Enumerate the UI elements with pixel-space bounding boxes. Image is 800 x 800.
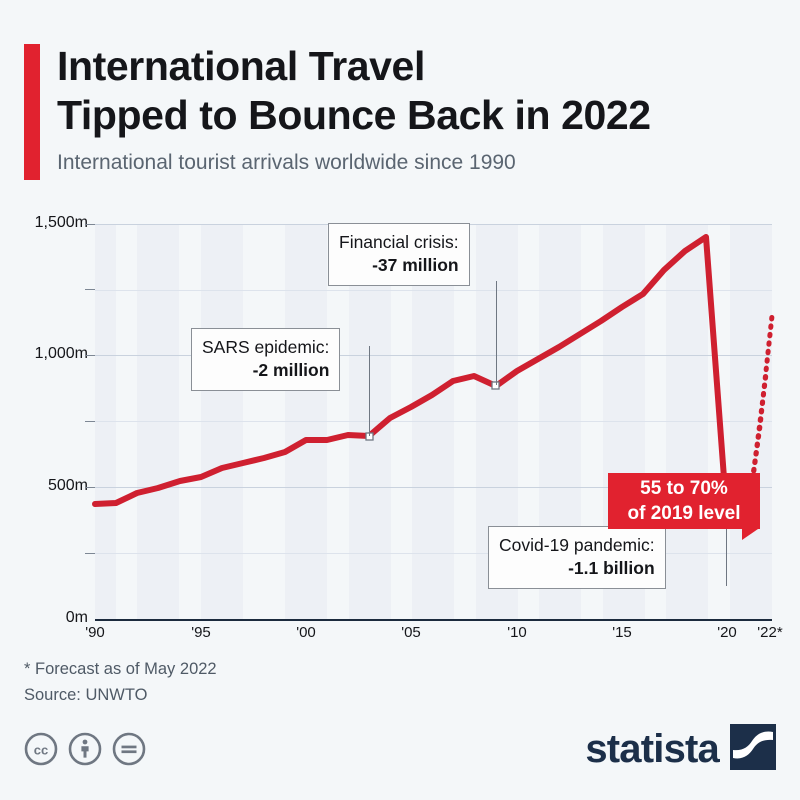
license-icons: cc: [24, 732, 146, 771]
page-title: International Travel Tipped to Bounce Ba…: [57, 42, 767, 140]
x-axis-label-2010: '10: [507, 624, 527, 641]
leader-line-financial-crisis: [496, 281, 497, 385]
x-axis-label-2020: '20: [717, 624, 737, 641]
forecast-note: * Forecast as of May 2022: [24, 660, 217, 679]
title-line-1: International Travel: [57, 43, 425, 89]
annotation-sars: SARS epidemic: -2 million: [191, 328, 340, 391]
x-axis-label-2022: '22*: [757, 624, 782, 641]
x-axis-label-1995: '95: [191, 624, 211, 641]
annotation-forecast-range: 55 to 70% of 2019 level: [608, 473, 760, 529]
annotation-sars-line1: SARS epidemic:: [202, 336, 329, 359]
source-note: Source: UNWTO: [24, 686, 147, 705]
annotation-financial-crisis-line1: Financial crisis:: [339, 231, 459, 254]
annotation-forecast-range-line1: 55 to 70%: [608, 476, 760, 501]
attribution-person-icon[interactable]: [68, 732, 102, 771]
statista-logo-text: statista: [585, 727, 719, 772]
annotation-forecast-range-tail: [742, 529, 758, 540]
statista-logo[interactable]: statista: [585, 724, 776, 775]
no-derivatives-equals-icon[interactable]: [112, 732, 146, 771]
annotation-covid: Covid-19 pandemic: -1.1 billion: [488, 526, 666, 589]
x-axis-label-2005: '05: [401, 624, 421, 641]
annotation-covid-line1: Covid-19 pandemic:: [499, 534, 655, 557]
x-axis-label-2015: '15: [612, 624, 632, 641]
annotation-sars-line2: -2 million: [202, 359, 329, 382]
x-axis-label-2000: '00: [296, 624, 316, 641]
page-subtitle: International tourist arrivals worldwide…: [57, 149, 767, 176]
svg-text:cc: cc: [34, 743, 48, 758]
annotation-forecast-range-line2: of 2019 level: [608, 501, 760, 526]
title-accent-bar: [24, 44, 40, 180]
title-line-2: Tipped to Bounce Back in 2022: [57, 91, 767, 140]
annotation-financial-crisis-line2: -37 million: [339, 254, 459, 277]
cc-icon[interactable]: cc: [24, 732, 58, 771]
leader-line-sars: [369, 346, 370, 436]
header: International Travel Tipped to Bounce Ba…: [0, 0, 800, 196]
chart: 1,500m 1,000m 500m 0m: [0, 196, 800, 648]
annotation-financial-crisis: Financial crisis: -37 million: [328, 223, 470, 286]
footer: * Forecast as of May 2022 Source: UNWTO …: [0, 652, 800, 800]
annotation-covid-line2: -1.1 billion: [499, 557, 655, 580]
x-axis-label-1990: '90: [85, 624, 105, 641]
statista-wave-mark-icon: [730, 724, 776, 775]
